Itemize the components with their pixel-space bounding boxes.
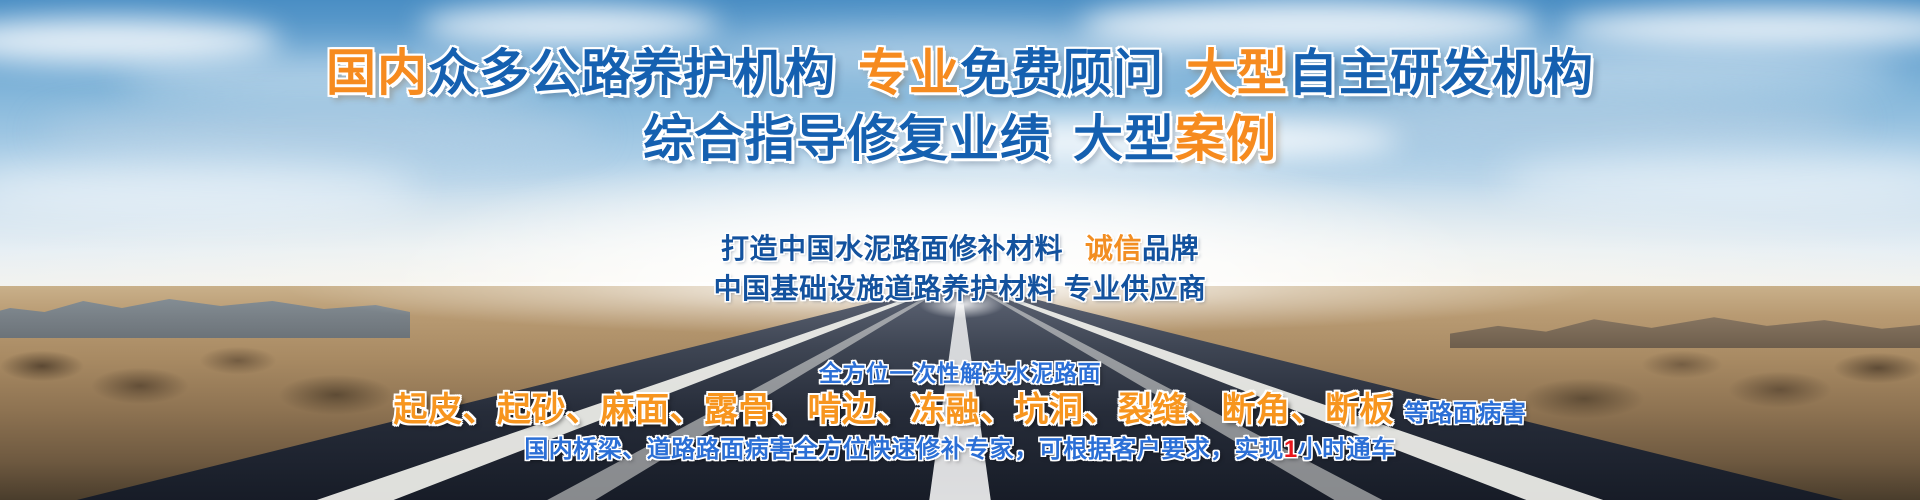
headline-seg-professional: 专业 (858, 45, 960, 101)
headline-line-1: 国内众多公路养护机构专业免费顾问大型自主研发机构 (0, 44, 1920, 102)
sub-seg-professional-supplier: 专业供应商 (1064, 273, 1207, 304)
subheading-line-1: 打造中国水泥路面修补材料诚信品牌 (0, 230, 1920, 268)
tagline-seg-hours-number: 1 (1284, 436, 1298, 463)
headline-seg-large-scale: 大型 (1186, 45, 1288, 101)
tagline-seg-expert: 国内桥梁、道路路面病害全方位快速修补专家，可根据客户要求，实现 (524, 436, 1284, 463)
tagline-seg-open-traffic: 通车 (1347, 436, 1396, 463)
cloud-streak (1560, 8, 1920, 48)
headline-seg-domestic: 国内 (326, 45, 428, 101)
tagline-seg-hour-unit: 小时 (1298, 436, 1347, 463)
headline-seg-free-consult: 免费顾问 (960, 45, 1164, 101)
promo-banner: 国内众多公路养护机构专业免费顾问大型自主研发机构 综合指导修复业绩大型案例 打造… (0, 0, 1920, 500)
headline-seg-rnd-institute: 自主研发机构 (1288, 45, 1594, 101)
bottom-lead-line: 全方位一次性解决水泥路面 (0, 358, 1920, 388)
sub-seg-infrastructure-material: 中国基础设施道路养护材料 (714, 273, 1056, 304)
cloud-streak (0, 160, 420, 218)
headline-seg-guidance-record: 综合指导修复业绩 (643, 111, 1051, 167)
headline-line-2: 综合指导修复业绩大型案例 (0, 110, 1920, 168)
sub-seg-cement-repair-material: 打造中国水泥路面修补材料 (721, 233, 1063, 264)
bottom-seg-defects: 起皮、起砂、麻面、露骨、啃边、冻融、坑洞、裂缝、断角、断板 (394, 391, 1395, 429)
bottom-seg-defects-suffix: 等路面病害 (1404, 400, 1527, 427)
headline-seg-case: 案例 (1175, 111, 1277, 167)
bottom-tagline: 国内桥梁、道路路面病害全方位快速修补专家，可根据客户要求，实现1小时通车 (0, 434, 1920, 466)
sub-seg-integrity: 诚信 (1085, 233, 1142, 264)
cloud-streak (1080, 0, 1540, 50)
headline-seg-large: 大型 (1073, 111, 1175, 167)
bottom-defect-list: 起皮、起砂、麻面、露骨、啃边、冻融、坑洞、裂缝、断角、断板等路面病害 (0, 388, 1920, 436)
sub-seg-brand: 品牌 (1142, 233, 1199, 264)
headline-seg-many-agencies: 众多公路养护机构 (428, 45, 836, 101)
cloud-streak (420, 6, 720, 46)
subheading-line-2: 中国基础设施道路养护材料 专业供应商 (0, 270, 1920, 308)
bottom-seg-all-in-one-solution: 全方位一次性解决水泥路面 (819, 360, 1101, 386)
